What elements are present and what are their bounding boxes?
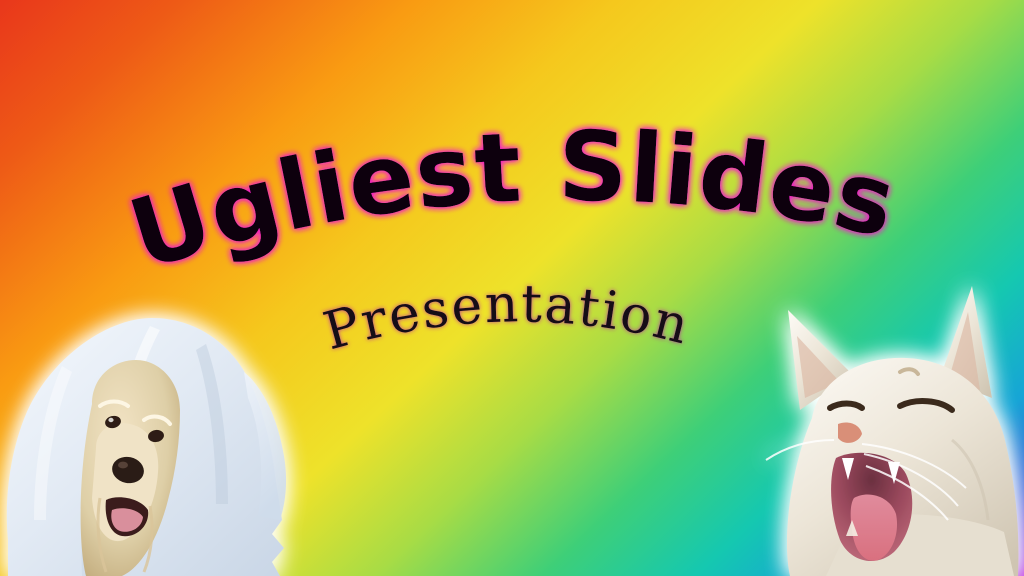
rainbow-gradient-background bbox=[0, 0, 1024, 576]
background-fill-rect bbox=[0, 0, 1024, 576]
ugliest-slides-title-slide: Ugliest Slides Presentation bbox=[0, 0, 1024, 576]
